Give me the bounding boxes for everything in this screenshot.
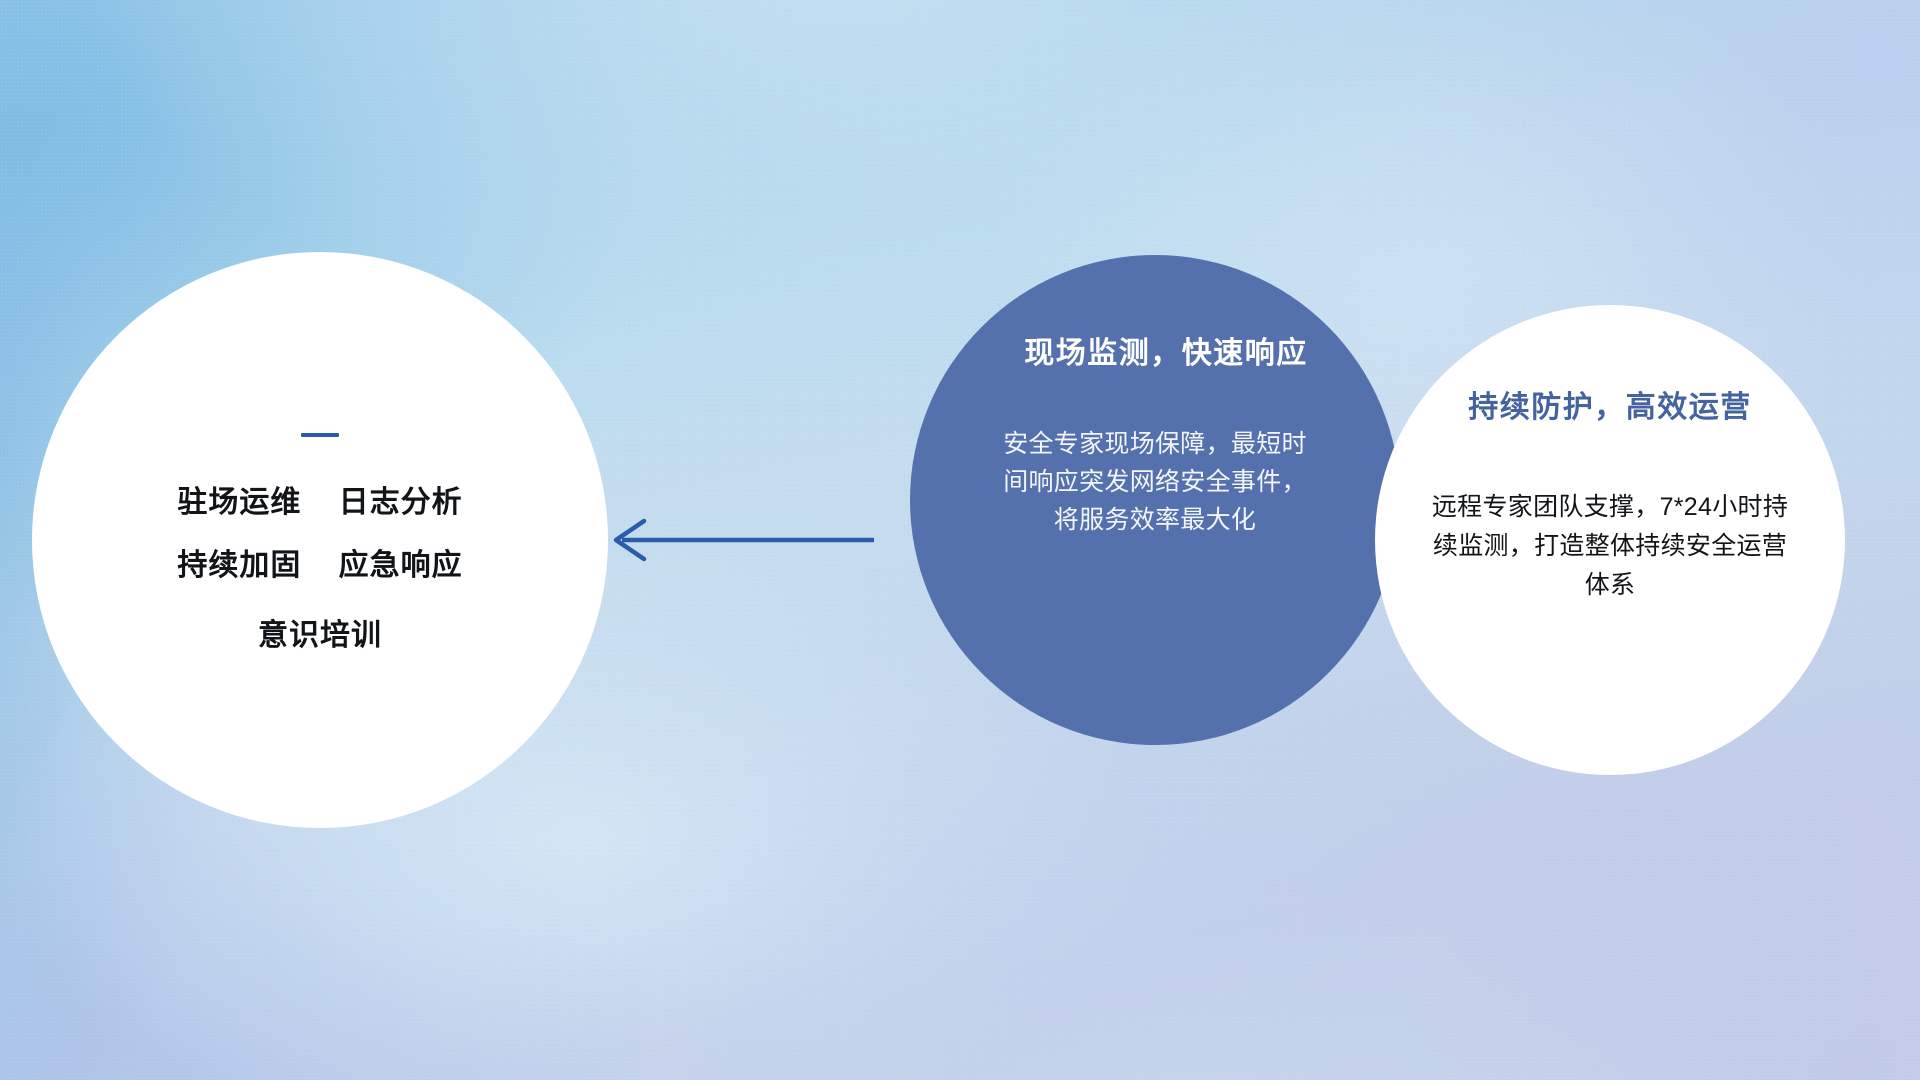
center-circle-content: 现场监测，快速响应 安全专家现场保障，最短时间响应突发网络安全事件，将服务效率最… [910, 255, 1400, 745]
center-circle-title: 现场监测，快速响应 [1024, 328, 1308, 372]
center-blue-circle[interactable]: 现场监测，快速响应 安全专家现场保障，最短时间响应突发网络安全事件，将服务效率最… [910, 255, 1400, 745]
left-circle-service-line: 持续加固 应急响应 [177, 548, 462, 584]
center-circle-body-text: 安全专家现场保障，最短时间响应突发网络安全事件，将服务效率最大化 [999, 425, 1311, 539]
right-white-circle[interactable]: 持续防护，高效运营 远程专家团队支撑，7*24小时持续监测，打造整体持续安全运营… [1375, 305, 1845, 775]
left-white-circle[interactable]: 驻场运维 日志分析 持续加固 应急响应 意识培训 [32, 252, 608, 828]
arrow-left-svg [596, 508, 876, 572]
right-circle-title: 持续防护，高效运营 [1468, 382, 1752, 426]
arrow-left-icon [596, 508, 876, 572]
left-circle-content: 驻场运维 日志分析 持续加固 应急响应 意识培训 [32, 252, 608, 828]
horizontal-dash-icon [301, 433, 339, 437]
right-circle-content: 持续防护，高效运营 远程专家团队支撑，7*24小时持续监测，打造整体持续安全运营… [1375, 305, 1845, 775]
left-circle-service-line: 驻场运维 日志分析 [177, 485, 462, 521]
right-circle-body-text: 远程专家团队支撑，7*24小时持续监测，打造整体持续安全运营体系 [1426, 488, 1794, 605]
left-circle-service-line: 意识培训 [258, 618, 382, 654]
